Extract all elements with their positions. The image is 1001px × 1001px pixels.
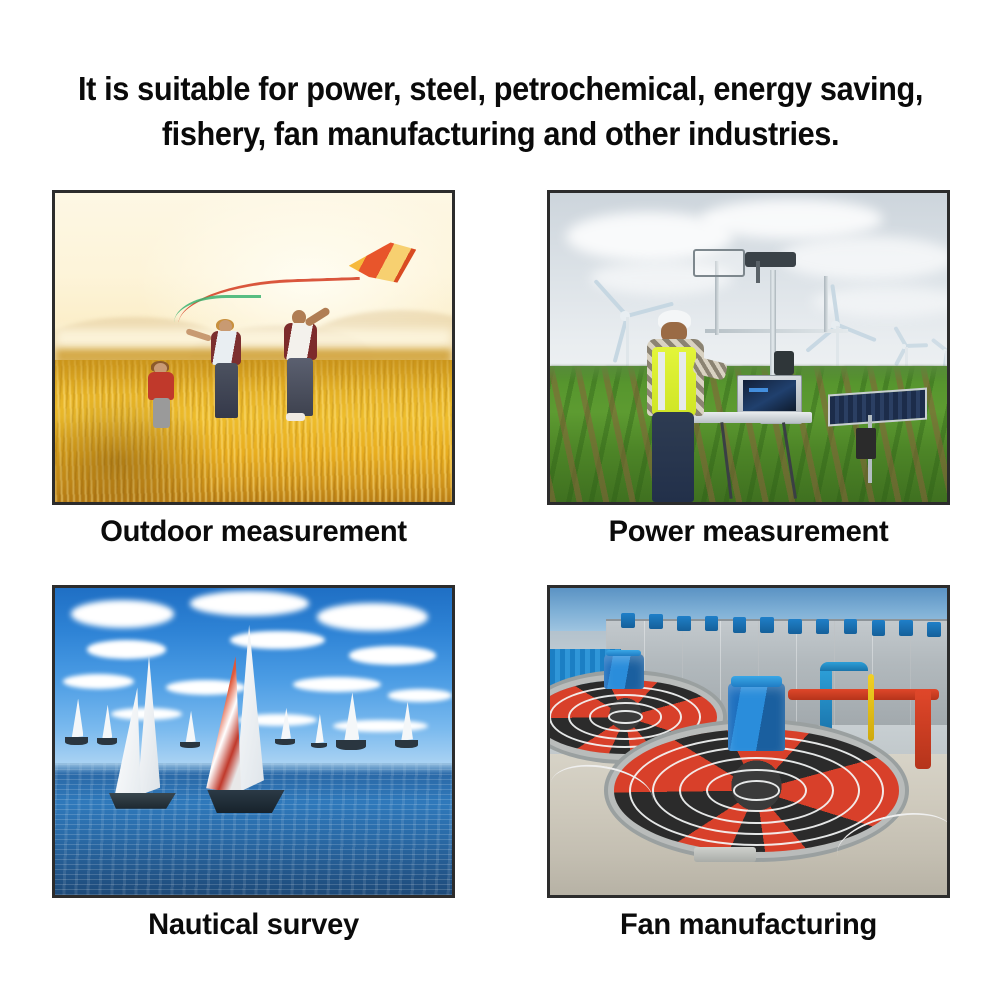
caption-fan-manufacturing: Fan manufacturing — [553, 907, 944, 943]
roof-motor — [899, 620, 912, 635]
person-woman — [202, 320, 262, 422]
distant-sailboat — [333, 692, 369, 753]
photo-outdoor-measurement[interactable] — [52, 190, 455, 505]
fan-motor-blue — [604, 654, 644, 689]
wind-vane-icon — [693, 249, 745, 278]
field-engineer — [637, 310, 716, 502]
page-root: It is suitable for power, steel, petroch… — [0, 0, 1001, 1001]
roof-motor — [816, 619, 829, 634]
application-gallery-grid: Outdoor measurement — [0, 0, 1001, 1001]
sailboat-red-spinnaker — [198, 625, 301, 821]
laptop — [737, 375, 803, 417]
caption-outdoor-measurement: Outdoor measurement — [58, 514, 449, 550]
hi-vis-vest — [652, 347, 696, 416]
cloud — [71, 600, 174, 628]
roof-motor — [872, 620, 885, 635]
gallery-item-power-measurement[interactable]: Power measurement — [547, 190, 950, 550]
photo-fan-manufacturing[interactable] — [547, 585, 950, 898]
photo-power-measurement[interactable] — [547, 190, 950, 505]
roof-motor — [705, 616, 718, 631]
gallery-item-fan-manufacturing[interactable]: Fan manufacturing — [547, 585, 950, 943]
gallery-item-outdoor-measurement[interactable]: Outdoor measurement — [52, 190, 455, 550]
caption-nautical-survey: Nautical survey — [58, 907, 449, 943]
anemometer-icon — [745, 252, 797, 267]
cloud — [349, 646, 436, 664]
photo-nautical-survey[interactable] — [52, 585, 455, 898]
roof-motor — [649, 614, 662, 629]
anemometer-pole-right — [824, 276, 828, 332]
cloud — [388, 689, 452, 701]
field-shadow — [52, 397, 222, 502]
sensor-module — [774, 351, 794, 376]
roof-motor — [788, 619, 801, 634]
caption-power-measurement: Power measurement — [553, 514, 944, 550]
fan-mounting-foot — [694, 847, 757, 862]
red-pipe-vertical — [915, 689, 931, 769]
roof-motor — [621, 613, 634, 628]
person-man — [273, 310, 337, 421]
battery-box — [856, 428, 876, 459]
roof-motor — [677, 616, 690, 631]
roof-motor — [760, 617, 773, 632]
solar-panel — [828, 387, 927, 426]
distant-sailboat — [309, 714, 329, 751]
roof-motor — [927, 622, 940, 637]
sailboat-white — [103, 656, 190, 816]
fan-motor-blue — [728, 683, 785, 752]
distant-sailboat — [392, 702, 420, 751]
cloud — [317, 603, 428, 631]
blue-pipe-vertical — [820, 668, 832, 736]
roof-motor — [733, 617, 746, 632]
person-child — [142, 363, 186, 431]
cloud — [780, 236, 950, 279]
distant-sailboat — [63, 699, 91, 748]
cloud — [190, 591, 309, 616]
anemometer-shaft — [756, 261, 760, 283]
roof-motor — [844, 619, 857, 634]
blue-pipe-elbow — [820, 662, 868, 671]
gallery-item-nautical-survey[interactable]: Nautical survey — [52, 585, 455, 943]
